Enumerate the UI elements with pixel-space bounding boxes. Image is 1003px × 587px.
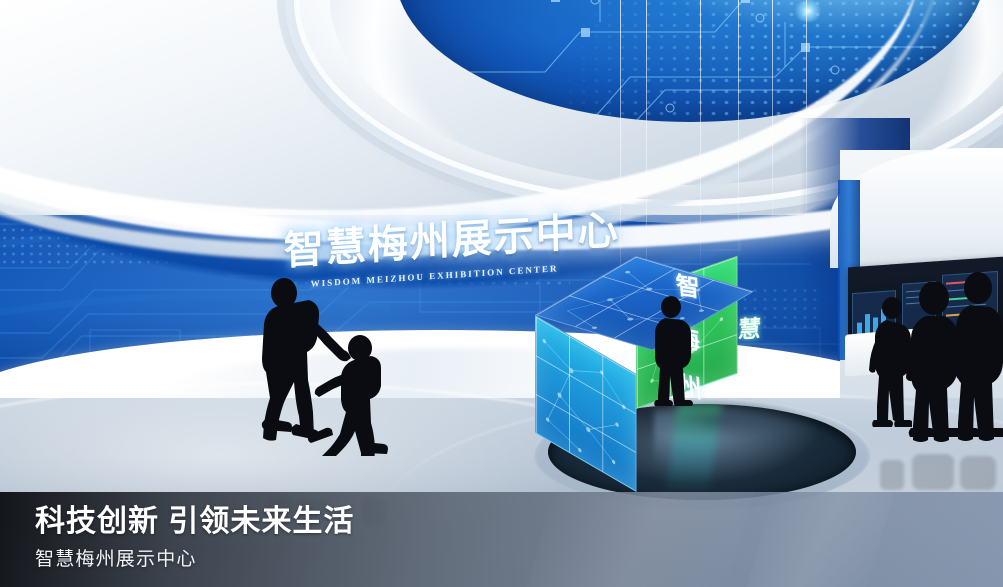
visitor-silhouette-icon [648,296,694,406]
visitor-reflection [880,430,1003,490]
caption-light-streak [517,492,763,587]
cube-char-hui: 慧 [737,317,762,341]
suspension-wire [806,0,807,236]
suspension-wire [620,0,621,300]
caption-bar: 科技创新 引领未来生活 智慧梅州展示中心 [0,492,1003,587]
caption-text-block: 科技创新 引领未来生活 智慧梅州展示中心 [35,504,354,571]
suspension-wire [772,0,773,250]
caption-subtitle: 智慧梅州展示中心 [35,544,354,571]
visitor-silhouette-icon [952,272,1003,442]
suspension-wire [700,0,701,270]
exhibition-hall-rendering: 智慧梅州展示中心 WISDOM MEIZHOU EXHIBITION CENTE… [0,0,1003,587]
caption-light-streak [737,492,903,587]
suspension-wire [738,0,739,262]
visitor-silhouette-icon [238,276,398,456]
caption-title: 科技创新 引领未来生活 [35,504,354,539]
suspension-wire [646,0,647,290]
